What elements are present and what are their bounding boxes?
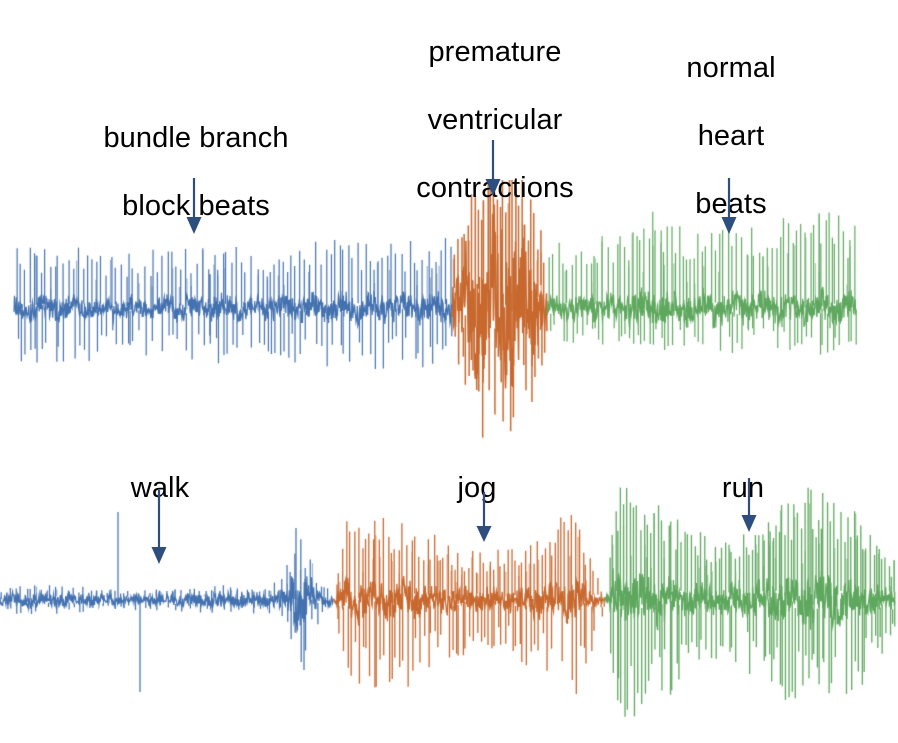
annotation-line: heart (531, 120, 898, 154)
annotation-normal-heart-beats: normal heart beats (531, 18, 898, 255)
arrow-jog (472, 492, 496, 546)
annotation-line: normal (531, 52, 898, 86)
annotation-run: run (543, 438, 898, 540)
arrow-run (737, 478, 761, 536)
arrow-walk (147, 490, 171, 568)
figure-canvas: bundle branch block beats premature vent… (0, 0, 898, 743)
annotation-line: beats (531, 188, 898, 222)
annotation-line: run (543, 472, 898, 506)
arrow-normal-heart-beats (717, 178, 741, 238)
arrow-bundle-branch-block-beats (182, 178, 206, 238)
arrow-premature-ventricular-contractions (481, 140, 505, 200)
